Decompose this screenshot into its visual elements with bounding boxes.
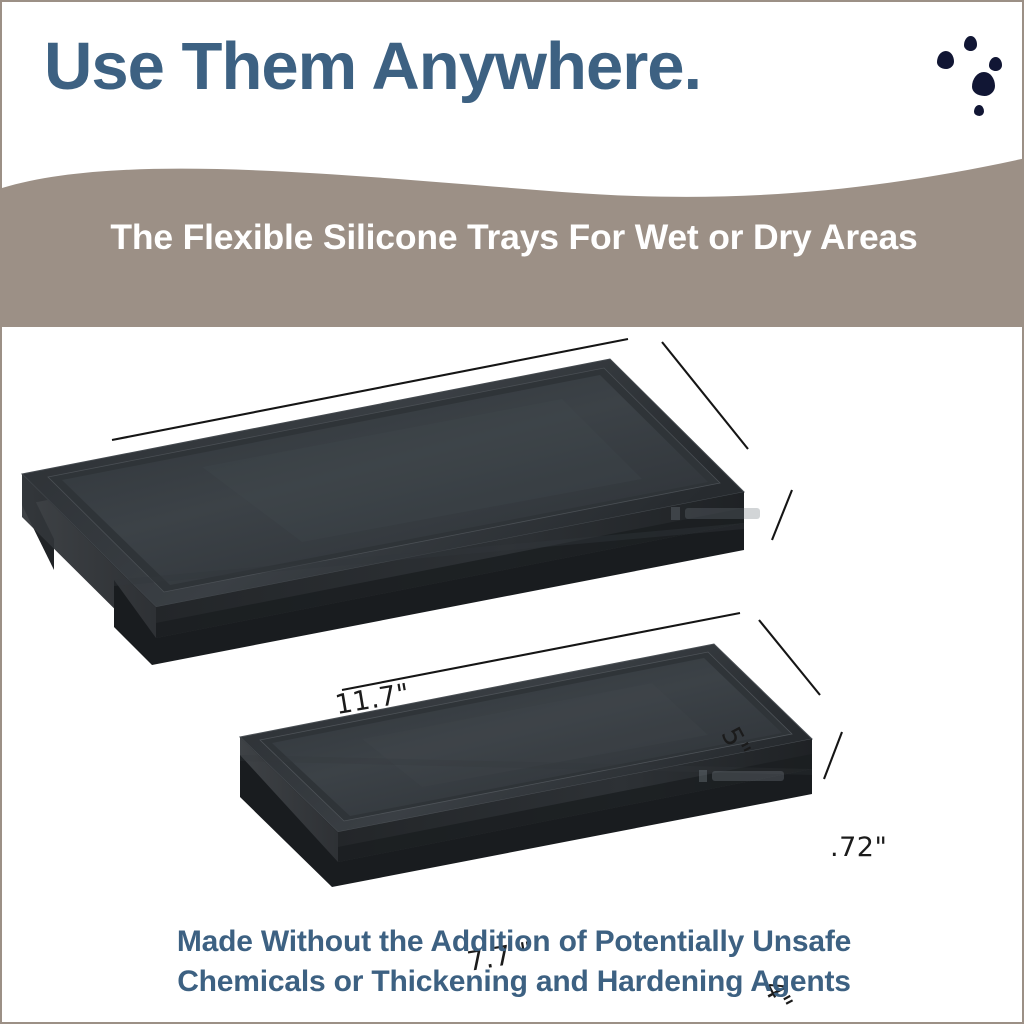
- small-tray-shape: [240, 644, 812, 887]
- droplet-dot: [989, 57, 1002, 71]
- large-tray-height-label: .72": [830, 832, 887, 863]
- droplet-dot: [937, 51, 954, 69]
- large-tray-shape: [22, 359, 760, 665]
- water-droplets-icon: [932, 14, 1018, 114]
- droplet-dot: [974, 105, 984, 116]
- page-title: Use Them Anywhere.: [44, 32, 701, 102]
- subtitle: The Flexible Silicone Trays For Wet or D…: [2, 217, 1024, 258]
- footer-claim-line-1: Made Without the Addition of Potentially…: [2, 922, 1024, 962]
- droplet-dot: [964, 36, 977, 51]
- droplet-dot: [972, 72, 995, 96]
- footer-claim: Made Without the Addition of Potentially…: [2, 922, 1024, 1002]
- footer-claim-line-2: Chemicals or Thickening and Hardening Ag…: [2, 962, 1024, 1002]
- product-infographic: Use Them Anywhere. The Flexible Silicone…: [0, 0, 1024, 1024]
- product-illustration: 11.7" 5" .72" 7.7 " 4" .72" FLEXIBLE: [2, 327, 1024, 927]
